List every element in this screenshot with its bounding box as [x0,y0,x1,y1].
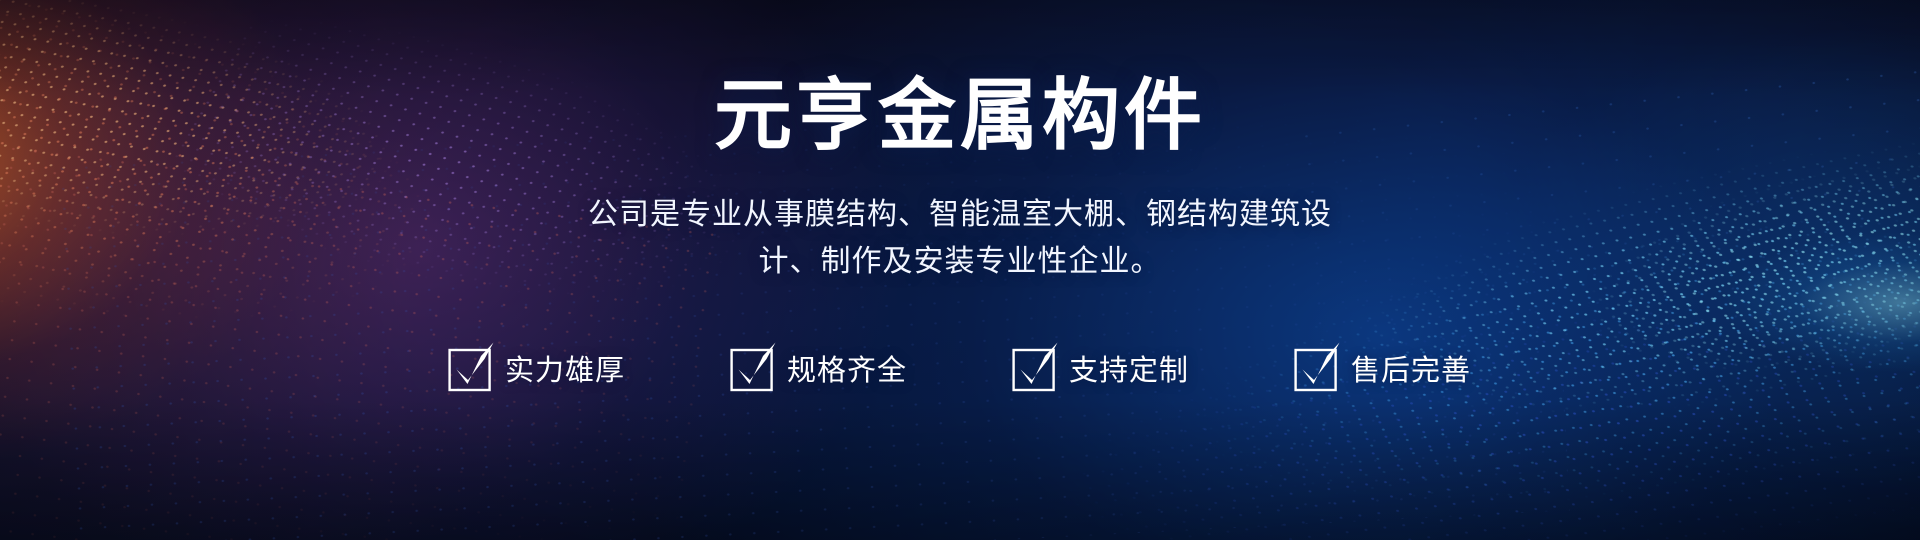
checkbox-checked-icon [731,347,773,389]
feature-item-1: 规格齐全 [731,347,907,389]
subtitle: 公司是专业从事膜结构、智能温室大棚、钢结构建筑设 计、制作及安装专业性企业。 [588,192,1332,285]
checkbox-checked-icon [1295,347,1337,389]
subtitle-line-1: 公司是专业从事膜结构、智能温室大棚、钢结构建筑设 [588,192,1332,239]
feature-label: 支持定制 [1069,347,1189,389]
feature-label: 规格齐全 [787,347,907,389]
feature-label: 实力雄厚 [505,347,625,389]
feature-label: 售后完善 [1351,347,1471,389]
feature-item-2: 支持定制 [1013,347,1189,389]
feature-item-3: 售后完善 [1295,347,1471,389]
banner-content: 元亨金属构件 公司是专业从事膜结构、智能温室大棚、钢结构建筑设 计、制作及安装专… [0,0,1920,540]
hero-banner: 元亨金属构件 公司是专业从事膜结构、智能温室大棚、钢结构建筑设 计、制作及安装专… [0,0,1920,540]
feature-item-0: 实力雄厚 [449,347,625,389]
checkbox-checked-icon [1013,347,1055,389]
subtitle-line-2: 计、制作及安装专业性企业。 [588,239,1332,286]
page-title: 元亨金属构件 [714,76,1206,154]
feature-list: 实力雄厚 规格齐全 支持定制 [449,347,1471,389]
checkbox-checked-icon [449,347,491,389]
